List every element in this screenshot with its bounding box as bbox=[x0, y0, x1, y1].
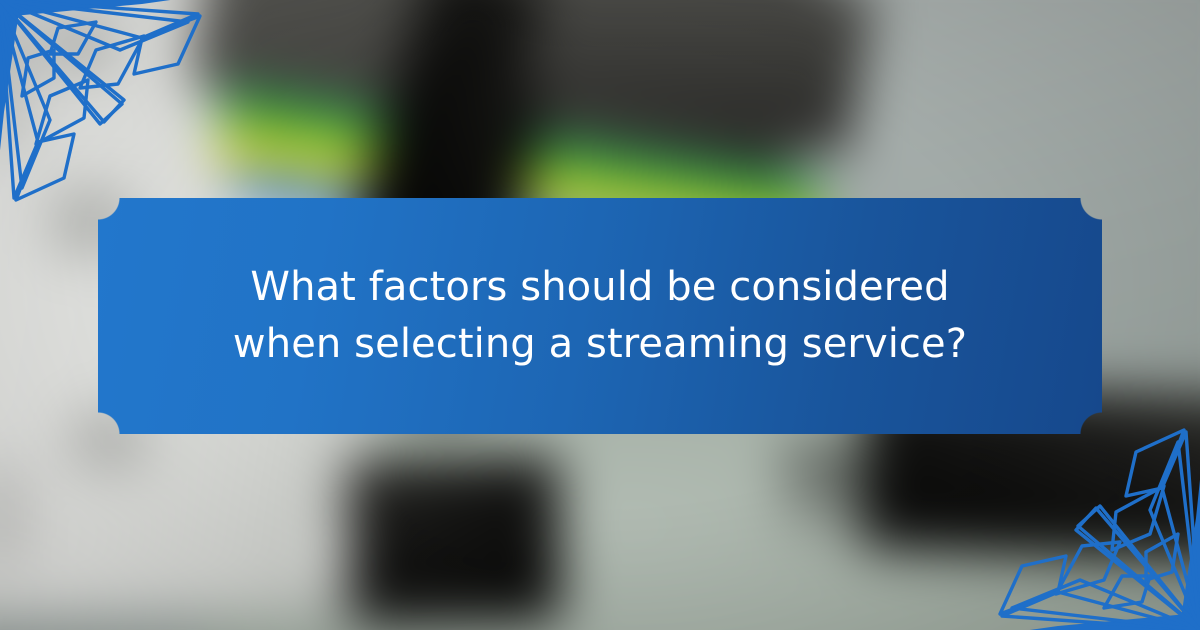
question-card: What factors should be considered when s… bbox=[0, 0, 1200, 630]
headline-banner: What factors should be considered when s… bbox=[98, 198, 1102, 434]
headline-text: What factors should be considered when s… bbox=[140, 259, 1060, 373]
